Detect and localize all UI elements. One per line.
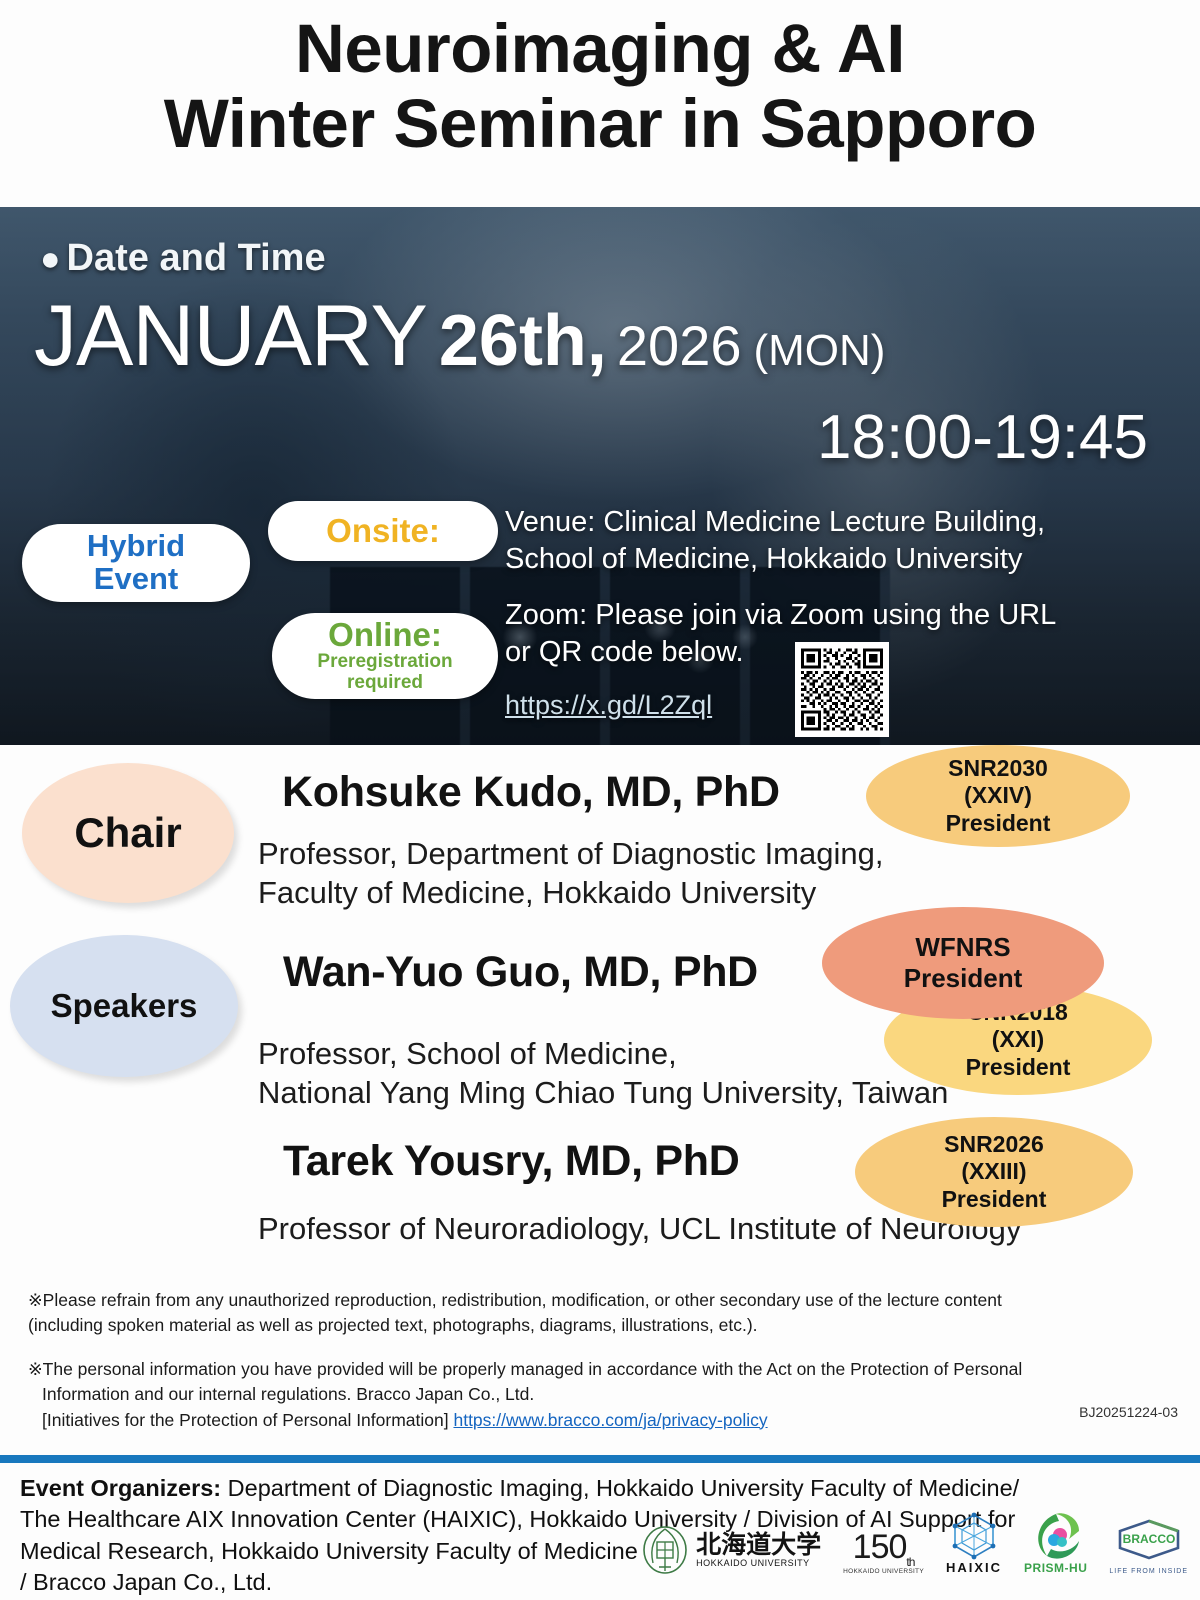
chair-affiliation: Professor, Department of Diagnostic Imag… xyxy=(258,835,883,913)
speaker2-affiliation: Professor of Neuroradiology, UCL Institu… xyxy=(258,1210,1021,1249)
bracco-logo: BRACCO LIFE FROM INSIDE xyxy=(1109,1518,1188,1575)
speaker2-affiliation-line-1: Professor of Neuroradiology, UCL Institu… xyxy=(258,1210,1021,1249)
snr2030-line-3: President xyxy=(946,810,1051,837)
bracco-hexagon-icon: BRACCO xyxy=(1114,1518,1184,1568)
venue-line-1: Venue: Clinical Medicine Lecture Buildin… xyxy=(505,504,1165,541)
title-line-2: Winter Seminar in Sapporo xyxy=(0,87,1200,162)
note-privacy-line-1: ※The personal information you have provi… xyxy=(28,1359,1022,1379)
privacy-initiatives-label: [Initiatives for the Protection of Perso… xyxy=(42,1410,449,1430)
prism-hu-label: PRISM-HU xyxy=(1024,1561,1087,1575)
snr2030-line-2: (XXIV) xyxy=(964,782,1032,809)
chair-snr2030-badge: SNR2030 (XXIV) President xyxy=(866,745,1130,847)
snr2026-line-2: (XXIII) xyxy=(961,1158,1026,1185)
online-label: Online: xyxy=(328,618,442,652)
speaker1-affiliation-line-1: Professor, School of Medicine, xyxy=(258,1035,948,1074)
hokkaido-university-crest-icon xyxy=(642,1525,688,1575)
note-privacy: ※The personal information you have provi… xyxy=(28,1357,1168,1433)
note-copyright-line-2: (including spoken material as well as pr… xyxy=(28,1315,758,1335)
online-pill: Online: Preregistration required xyxy=(272,613,498,699)
date-and-time-label: Date and Time xyxy=(67,237,326,280)
chair-role-badge: Chair xyxy=(22,763,234,903)
online-sub-line1: Preregistration xyxy=(317,652,452,673)
organizers-line-1: Department of Diagnostic Imaging, Hokkai… xyxy=(221,1475,1019,1501)
snr2018-line-2: (XXI) xyxy=(992,1026,1044,1053)
event-date: JANUARY 26th, 2026 (MON) xyxy=(34,287,1160,386)
venue-info: Venue: Clinical Medicine Lecture Buildin… xyxy=(505,504,1165,578)
speaker1-wfnrs-badge: WFNRS President xyxy=(822,907,1104,1019)
bullet-icon: ● xyxy=(40,242,61,276)
title-line-1: Neuroimaging & AI xyxy=(0,12,1200,87)
venue-line-2: School of Medicine, Hokkaido University xyxy=(505,541,1165,578)
snr2018-line-3: President xyxy=(966,1054,1071,1081)
haixic-hexagon-icon xyxy=(948,1510,1000,1560)
hokudai-english-name: HOKKAIDO UNIVERSITY xyxy=(696,1558,821,1568)
hybrid-label-line2: Event xyxy=(94,563,178,596)
speaker2-name: Tarek Yousry, MD, PhD xyxy=(283,1137,739,1186)
speaker1-name: Wan-Yuo Guo, MD, PhD xyxy=(283,948,758,997)
anniversary-caption: HOKKAIDO UNIVERSITY xyxy=(843,1568,924,1575)
hokudai-japanese-name: 北海道大学 xyxy=(696,1533,821,1558)
organizers-line-4: / Bracco Japan Co., Ltd. xyxy=(20,1569,272,1595)
note-privacy-line-2: Information and our internal regulations… xyxy=(28,1382,1168,1407)
event-year: 2026 xyxy=(617,313,742,378)
online-sub-line2: required xyxy=(347,673,423,694)
wfnrs-line-1: WFNRS xyxy=(915,932,1010,963)
event-month: JANUARY xyxy=(34,287,427,386)
event-time: 18:00-19:45 xyxy=(817,402,1148,473)
hero-banner: ● Date and Time JANUARY 26th, 2026 (MON)… xyxy=(0,207,1200,745)
chair-affiliation-line-2: Faculty of Medicine, Hokkaido University xyxy=(258,874,883,913)
anniversary-suffix: th xyxy=(906,1555,914,1569)
qr-code-svg xyxy=(801,648,883,731)
note-copyright: ※Please refrain from any unauthorized re… xyxy=(28,1288,1168,1339)
speakers-role-badge: Speakers xyxy=(10,935,238,1077)
sponsor-logos: 北海道大学 HOKKAIDO UNIVERSITY 150th HOKKAIDO… xyxy=(642,1510,1188,1575)
prism-hu-swirl-icon xyxy=(1029,1511,1083,1561)
chair-name: Kohsuke Kudo, MD, PhD xyxy=(282,768,780,817)
anniversary-number-text: 150 xyxy=(853,1528,907,1566)
snr2030-line-1: SNR2030 xyxy=(948,755,1048,782)
qr-code[interactable] xyxy=(795,642,889,737)
footer-divider xyxy=(0,1455,1200,1463)
chair-affiliation-line-1: Professor, Department of Diagnostic Imag… xyxy=(258,835,883,874)
organizers-line-3: Medical Research, Hokkaido University Fa… xyxy=(20,1538,638,1564)
disclaimer-notes: ※Please refrain from any unauthorized re… xyxy=(28,1288,1168,1451)
snr2026-line-3: President xyxy=(942,1186,1047,1213)
event-day: 26th, xyxy=(439,300,607,382)
anniversary-number: 150th xyxy=(853,1531,915,1568)
zoom-line-1: Zoom: Please join via Zoom using the URL xyxy=(505,597,1165,634)
hokkaido-university-logo: 北海道大学 HOKKAIDO UNIVERSITY xyxy=(642,1525,821,1575)
speaker2-snr2026-badge: SNR2026 (XXIII) President xyxy=(855,1117,1133,1227)
privacy-policy-link[interactable]: https://www.bracco.com/ja/privacy-policy xyxy=(453,1410,767,1430)
note-privacy-line-3: [Initiatives for the Protection of Perso… xyxy=(28,1408,1168,1433)
haixic-label: HAIXIC xyxy=(946,1560,1002,1575)
onsite-label: Onsite: xyxy=(326,512,440,550)
poster-title: Neuroimaging & AI Winter Seminar in Sapp… xyxy=(0,0,1200,161)
chair-role-label: Chair xyxy=(74,809,181,857)
haixic-logo: HAIXIC xyxy=(946,1510,1002,1575)
zoom-registration-url[interactable]: https://x.gd/L2Zql xyxy=(505,690,712,721)
speakers-role-label: Speakers xyxy=(51,987,198,1025)
organizers-label: Event Organizers: xyxy=(20,1475,221,1501)
prism-hu-logo: PRISM-HU xyxy=(1024,1511,1087,1575)
hybrid-label-line1: Hybrid xyxy=(87,530,185,563)
wfnrs-line-2: President xyxy=(904,963,1023,994)
hybrid-event-pill: Hybrid Event xyxy=(22,524,250,602)
event-day-of-week: (MON) xyxy=(753,326,885,376)
snr2026-line-1: SNR2026 xyxy=(944,1131,1044,1158)
bracco-wordmark: BRACCO xyxy=(1122,1532,1175,1546)
anniversary-150-logo: 150th HOKKAIDO UNIVERSITY xyxy=(843,1531,924,1575)
date-and-time-heading: ● Date and Time xyxy=(40,237,326,280)
speaker1-affiliation: Professor, School of Medicine, National … xyxy=(258,1035,948,1113)
document-code: BJ20251224-03 xyxy=(1079,1404,1178,1420)
note-copyright-line-1: ※Please refrain from any unauthorized re… xyxy=(28,1290,1002,1310)
bracco-tagline: LIFE FROM INSIDE xyxy=(1109,1568,1188,1575)
onsite-pill: Onsite: xyxy=(268,501,498,561)
speaker1-affiliation-line-2: National Yang Ming Chiao Tung University… xyxy=(258,1074,948,1113)
